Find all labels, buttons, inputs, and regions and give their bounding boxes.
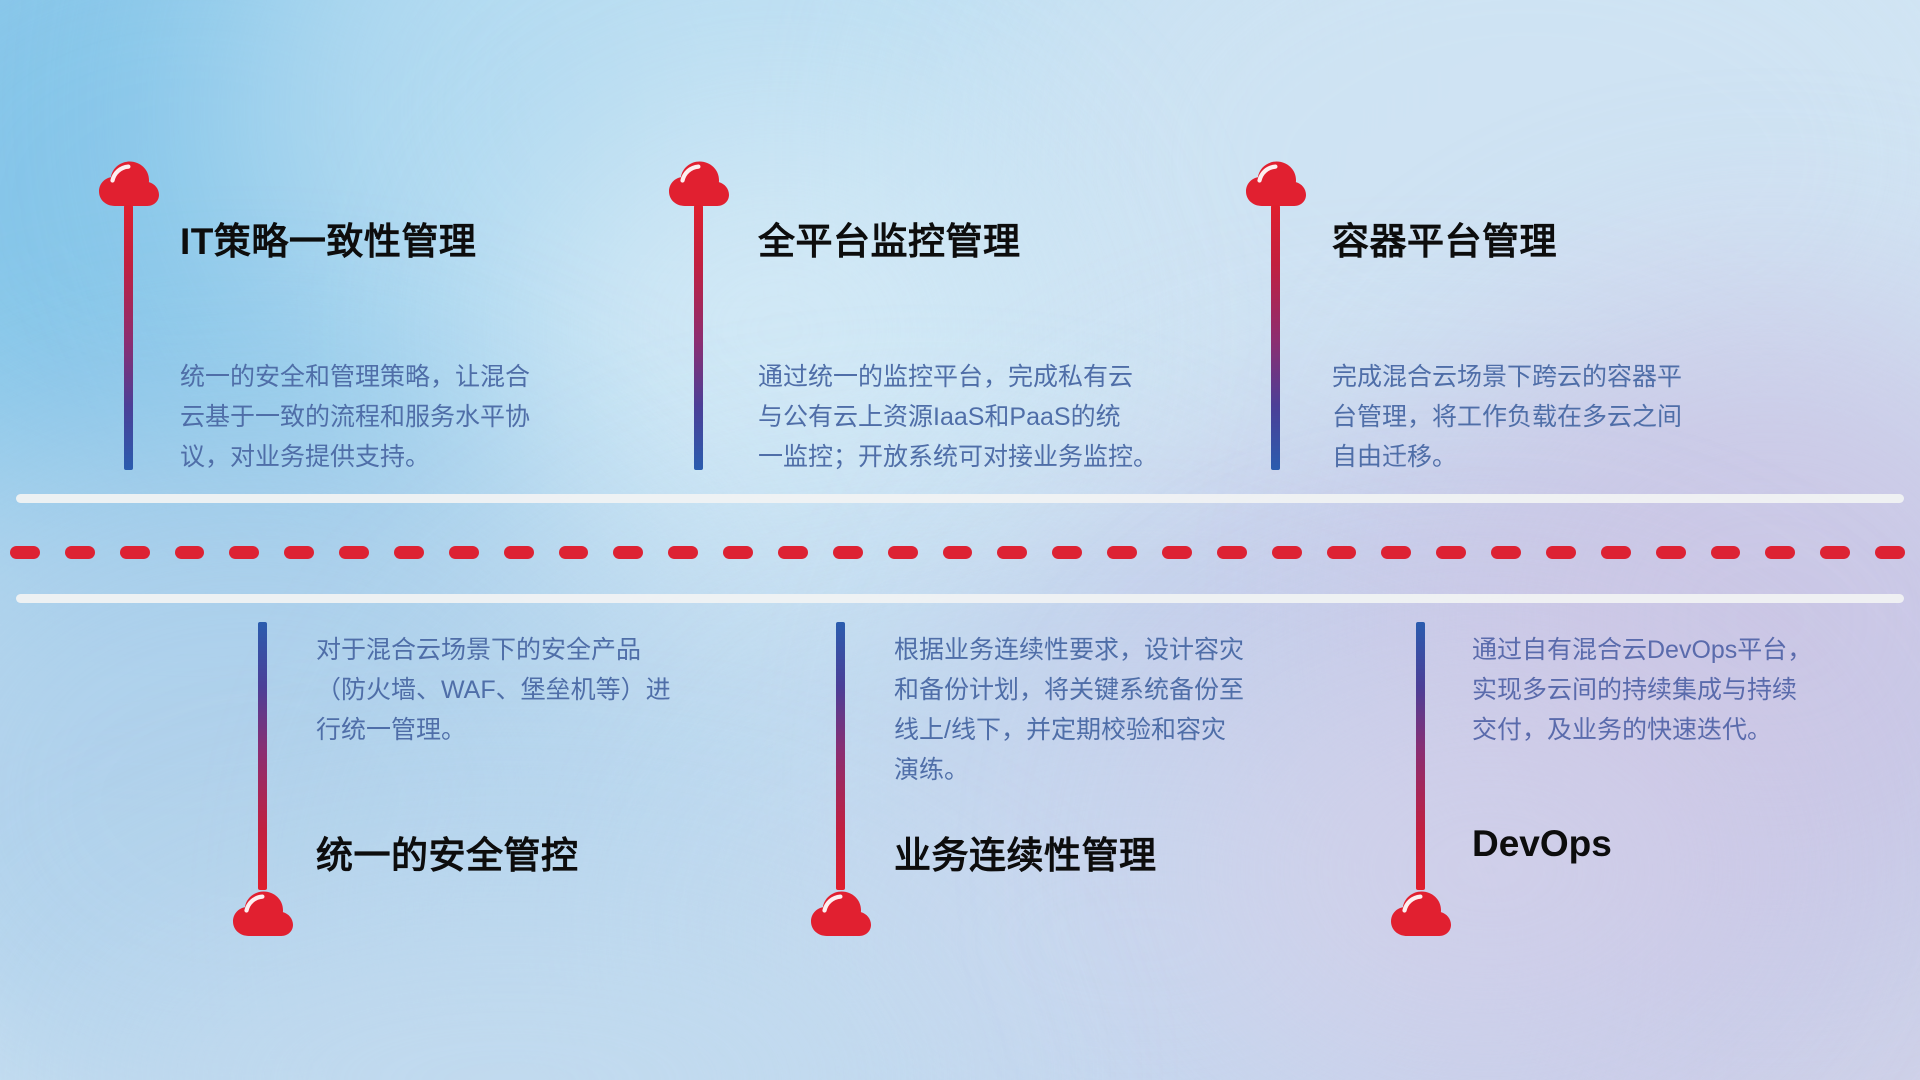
background-blob xyxy=(0,0,640,580)
divider-rail-bottom xyxy=(16,594,1904,603)
cloud-icon xyxy=(1245,160,1307,208)
divider-dash xyxy=(668,546,698,559)
pillar-stem xyxy=(1416,622,1425,890)
pillar-title: IT策略一致性管理 xyxy=(180,211,476,265)
divider-dash xyxy=(613,546,643,559)
divider-dash xyxy=(1820,546,1850,559)
pillar-stem xyxy=(694,205,703,470)
divider-dash xyxy=(284,546,314,559)
pillar-stem xyxy=(1271,205,1280,470)
divider-dash xyxy=(394,546,424,559)
divider-dash xyxy=(1656,546,1686,559)
divider-dash xyxy=(449,546,479,559)
divider-dash xyxy=(559,546,589,559)
divider-dash xyxy=(1491,546,1521,559)
divider-dash xyxy=(1327,546,1357,559)
divider-dash xyxy=(778,546,808,559)
pillar-stem xyxy=(124,205,133,470)
cloud-icon xyxy=(810,890,872,938)
pillar-title: 业务连续性管理 xyxy=(894,825,1157,879)
divider-dash xyxy=(339,546,369,559)
divider-dash xyxy=(229,546,259,559)
pillar-title: DevOps xyxy=(1472,823,1612,865)
divider-dash xyxy=(10,546,40,559)
divider-dash xyxy=(120,546,150,559)
divider-dash xyxy=(1052,546,1082,559)
divider-dash xyxy=(1875,546,1905,559)
divider-dash xyxy=(1162,546,1192,559)
pillar-title: 全平台监控管理 xyxy=(758,211,1021,265)
divider-dash xyxy=(1765,546,1795,559)
divider-dash xyxy=(504,546,534,559)
divider-dash xyxy=(943,546,973,559)
pillar-body: 通过统一的监控平台，完成私有云 与公有云上资源IaaS和PaaS的统 一监控；开… xyxy=(758,357,1218,477)
divider-dash xyxy=(65,546,95,559)
pillar-stem xyxy=(258,622,267,890)
cloud-icon xyxy=(1390,890,1452,938)
divider-dash xyxy=(175,546,205,559)
background-blob xyxy=(420,540,1420,1080)
divider-rail-top xyxy=(16,494,1904,503)
background-blob xyxy=(0,420,700,1080)
divider-dash xyxy=(1601,546,1631,559)
infographic-canvas: IT策略一致性管理 统一的安全和管理策略，让混合 云基于一致的流程和服务水平协 … xyxy=(0,0,1920,1080)
background-blob xyxy=(520,120,1040,540)
divider-dash xyxy=(1546,546,1576,559)
pillar-body: 完成混合云场景下跨云的容器平 台管理，将工作负载在多云之间 自由迁移。 xyxy=(1332,357,1782,477)
pillar-title: 容器平台管理 xyxy=(1332,211,1557,265)
cloud-icon xyxy=(98,160,160,208)
divider-dash xyxy=(1436,546,1466,559)
pillar-body: 根据业务连续性要求，设计容灾 和备份计划，将关键系统备份至 线上/线下，并定期校… xyxy=(894,630,1334,790)
pillar-body: 通过自有混合云DevOps平台， 实现多云间的持续集成与持续 交付，及业务的快速… xyxy=(1472,630,1912,750)
pillar-body: 对于混合云场景下的安全产品 （防火墙、WAF、堡垒机等）进 行统一管理。 xyxy=(316,630,746,750)
divider-dash xyxy=(723,546,753,559)
divider-dashed-line xyxy=(0,546,1920,559)
divider-dash xyxy=(1107,546,1137,559)
divider-dash xyxy=(888,546,918,559)
cloud-icon xyxy=(668,160,730,208)
pillar-title: 统一的安全管控 xyxy=(316,825,579,879)
divider-dash xyxy=(1272,546,1302,559)
divider-dash xyxy=(1217,546,1247,559)
pillar-body: 统一的安全和管理策略，让混合 云基于一致的流程和服务水平协 议，对业务提供支持。 xyxy=(180,357,610,477)
cloud-icon xyxy=(232,890,294,938)
divider-dash xyxy=(833,546,863,559)
divider-dash xyxy=(997,546,1027,559)
divider-dash xyxy=(1381,546,1411,559)
divider-dash xyxy=(1711,546,1741,559)
pillar-stem xyxy=(836,622,845,890)
